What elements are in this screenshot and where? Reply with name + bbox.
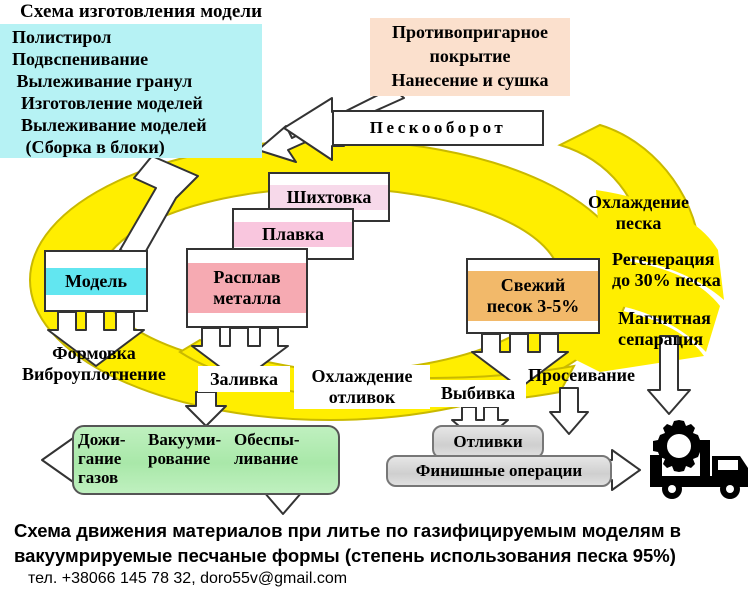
coating-line-1: Противопригарное: [370, 20, 570, 44]
model-box: Модель: [44, 250, 148, 312]
fresh-sand-box: Свежий песок 3-5%: [466, 258, 600, 334]
casting-cooling-label: Охлаждение отливок: [294, 365, 430, 409]
fresh-sand-label: Свежий песок 3-5%: [487, 275, 579, 316]
finishing-label: Финишные операции: [416, 461, 582, 481]
molten-metal-box: Расплав металла: [186, 248, 308, 328]
polystyrene-line-2: Подвспенивание: [12, 48, 264, 70]
caption-line-1: Схема движения материалов при литье по г…: [14, 518, 744, 543]
caption-line-2: вакуумрируемые песчаные формы (степень и…: [14, 543, 744, 568]
polystyrene-line-1: Полистирол: [12, 26, 264, 48]
magnetic-separation-label: Магнитная сепарация: [618, 308, 711, 350]
shipping-icon: [650, 420, 748, 499]
polystyrene-line-3: Вылеживание гранул: [12, 70, 264, 92]
model-label: Модель: [65, 271, 127, 291]
page-title: Схема изготовления модели: [20, 2, 262, 21]
gas-afterburning-label: Дожи- гание газов: [78, 430, 126, 487]
polystyrene-process-lines: Полистирол Подвспенивание Вылеживание гр…: [12, 26, 264, 158]
moulding-label: Формовка Виброуплотнение: [22, 343, 166, 385]
polystyrene-line-6: (Сборка в блоки): [12, 136, 264, 158]
sand-circulation-label: Пескооборот: [370, 118, 506, 138]
sand-cooling-label: Охлаждение песка: [588, 192, 689, 234]
diagram-canvas: Схема изготовления модели Полистирол Под…: [0, 0, 750, 600]
molten-metal-label: Расплав металла: [213, 267, 281, 308]
knockout-label: Выбивка: [430, 380, 526, 407]
charging-label: Шихтовка: [287, 187, 372, 207]
finishing-operations-box: Финишные операции: [386, 455, 612, 487]
gear-icon: [653, 420, 705, 472]
melting-label: Плавка: [262, 224, 324, 244]
anti-burn-coating-lines: Противопригарное покрытие Нанесение и су…: [370, 20, 570, 92]
coating-line-3: Нанесение и сушка: [370, 68, 570, 92]
polystyrene-line-5: Вылеживание моделей: [12, 114, 264, 136]
regeneration-label: Регенерация до 30% песка: [612, 249, 721, 291]
sieving-label: Просеивание: [528, 365, 635, 386]
castings-label: Отливки: [453, 432, 522, 452]
contact-info: тел. +38066 145 78 32, doro55v@gmail.com: [28, 570, 347, 588]
truck-icon: [662, 456, 748, 499]
sand-circulation-box: Пескооборот: [332, 110, 544, 146]
vacuuming-label: Вакууми- рование: [148, 430, 221, 468]
coating-line-2: покрытие: [370, 44, 570, 68]
dedusting-label: Обеспы- ливание: [234, 430, 300, 468]
caption: Схема движения материалов при литье по г…: [14, 518, 744, 568]
castings-box: Отливки: [432, 425, 544, 459]
pouring-label: Заливка: [198, 366, 290, 392]
polystyrene-line-4: Изготовление моделей: [12, 92, 264, 114]
